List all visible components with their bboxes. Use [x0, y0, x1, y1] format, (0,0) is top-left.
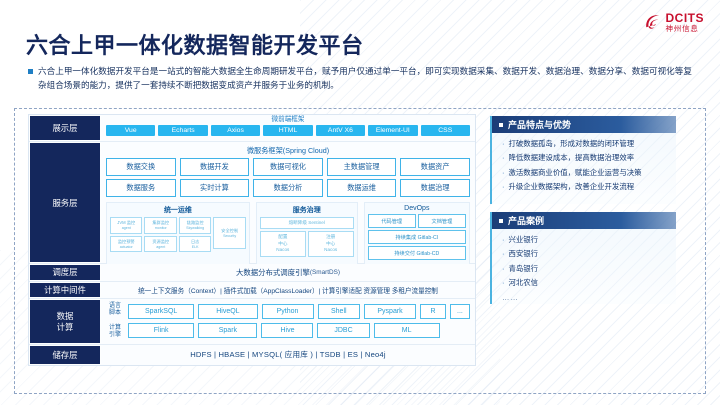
bullet-dot-icon: · [502, 153, 504, 163]
architecture-diagram: 展示层 微前端框架 Vue Echarts Axios HTML AntV X6… [28, 114, 476, 366]
script-label: 语言 脚本 [106, 303, 124, 318]
case-text: 兴业银行 [508, 235, 538, 245]
ops-cell-security[interactable]: 安全控制 Security [213, 217, 245, 249]
service-body: 微服务框架(Spring Cloud) 数据交换 数据开发 数据可视化 主数据管… [101, 142, 475, 263]
advantages-list: · 打破数据孤岛，形成对数据的闭环管理 · 降低数据建设成本，提高数据治理效率 … [492, 133, 676, 192]
ops-cell-en: Security [223, 234, 236, 239]
layer-label-middleware: 计算中间件 [29, 282, 101, 298]
micro-frontend-label: 微前端框架 [106, 116, 470, 124]
brand-logo: DCITS 神州信息 [644, 12, 705, 33]
layer-service: 服务层 微服务框架(Spring Cloud) 数据交换 数据开发 数据可视化 … [29, 142, 475, 264]
engine-cell[interactable]: ML [374, 323, 440, 338]
bullet-dot-icon: · [502, 264, 504, 274]
ops-column: 安全控制 Security [213, 217, 245, 252]
intro-paragraph: 六合上甲一体化数据开发平台是一站式的智能大数据全生命周期研发平台，赋予用户仅通过… [28, 64, 692, 92]
ops-column: 链路监控 Skywalking 日志 ELK [179, 217, 211, 252]
cases-header: 产品案例 [492, 212, 676, 229]
ops-cell[interactable]: JVM 监控 agent [110, 217, 142, 234]
intro-text: 六合上甲一体化数据开发平台是一站式的智能大数据全生命周期研发平台，赋予用户仅通过… [38, 64, 692, 92]
layer-label-presentation: 展示层 [29, 115, 101, 141]
ops-cell[interactable]: 日志 ELK [179, 236, 211, 253]
engine-label-line2: 引擎 [106, 332, 124, 340]
service-governance-card: 服务治理 熔断降级 Sentinel 配置 中心 Nacos 注册 中心 [256, 202, 358, 266]
layer-storage: 储存层 HDFS | HBASE | MYSQL( 应用库 ) | TSDB |… [29, 345, 475, 365]
ops-column: JVM 监控 agent 监控预警 actuator [110, 217, 142, 252]
bullet-dot-icon: · [502, 235, 504, 245]
devops-cd[interactable]: 持续交付 Gitlab-CD [368, 246, 466, 260]
ops-cell[interactable]: 集群监控 monitor [144, 217, 176, 234]
script-cell[interactable]: HiveQL [198, 304, 257, 319]
service-module-row: 数据交换 数据开发 数据可视化 主数据管理 数据资产 [106, 158, 470, 176]
layer-label-data-compute: 数据 计算 [29, 299, 101, 344]
ops-cell-en: actuator [120, 245, 133, 250]
engine-cell[interactable]: Hive [261, 323, 313, 338]
cases-more: …… [502, 293, 668, 303]
advantage-text: 降低数据建设成本，提高数据治理效率 [508, 153, 634, 163]
middleware-text: 统一上下文服务（Context）| 插件式加载（AppClassLoader）|… [106, 284, 470, 295]
service-module[interactable]: 数据交换 [106, 158, 176, 176]
spring-cloud-label: 微服务框架(Spring Cloud) [106, 146, 470, 156]
cases-panel: 产品案例 · 兴业银行 · 西安银行 · 青岛银行 · 河北农信 …… [490, 212, 676, 304]
layer-data-compute: 数据 计算 语言 脚本 计算 引擎 SparkSQL HiveQL Pytho [29, 299, 475, 345]
advantage-text: 激活数据商业价值，赋能企业运营与决策 [508, 168, 641, 178]
advantages-header: 产品特点与优势 [492, 116, 676, 133]
dcits-logo-icon [644, 13, 662, 31]
script-cell[interactable]: Pyspark [364, 304, 416, 319]
engine-cell[interactable]: Flink [128, 323, 194, 338]
tech-tag[interactable]: Axios [211, 125, 260, 136]
service-module[interactable]: 主数据管理 [327, 158, 397, 176]
bullet-square-icon [499, 123, 503, 127]
storage-text: HDFS | HBASE | MYSQL( 应用库 ) | TSDB | ES … [106, 347, 470, 362]
schedule-engine-line: 大数据分布式调度引擎 (SmartDS) [106, 266, 470, 277]
engine-cell[interactable]: Spark [198, 323, 257, 338]
schedule-engine-suffix: (SmartDS) [310, 269, 340, 276]
governance-registry-center[interactable]: 注册 中心 Nacos [308, 231, 354, 256]
page-title: 六合上甲一体化数据智能开发平台 [26, 28, 364, 60]
cases-list: · 兴业银行 · 西安银行 · 青岛银行 · 河北农信 …… [492, 229, 676, 303]
case-text: 西安银行 [508, 249, 538, 259]
service-module[interactable]: 数据服务 [106, 179, 176, 197]
devops-card: DevOps 代码管理 文档管理 持续集成 Gitlab-CI 持续交付 Git… [364, 202, 470, 266]
script-label-line1: 语言 [106, 303, 124, 311]
layer-label-schedule: 调度层 [29, 264, 101, 280]
script-cell[interactable]: SparkSQL [128, 304, 194, 319]
governance-title: 服务治理 [260, 205, 354, 215]
ops-cell-en: agent [122, 226, 131, 231]
devops-title: DevOps [368, 205, 466, 212]
governance-config-center[interactable]: 配置 中心 Nacos [260, 231, 306, 256]
config-center-line3: Nacos [261, 247, 305, 253]
service-module[interactable]: 数据治理 [400, 179, 470, 197]
data-compute-label-line1: 数据 [57, 311, 74, 322]
devops-ci[interactable]: 持续集成 Gitlab-CI [368, 230, 466, 244]
script-cell[interactable]: Python [262, 304, 314, 319]
service-module[interactable]: 实时计算 [180, 179, 250, 197]
bullet-square-icon [28, 69, 33, 74]
layer-middleware: 计算中间件 统一上下文服务（Context）| 插件式加载（AppClassLo… [29, 282, 475, 299]
governance-stack: 熔断降级 Sentinel 配置 中心 Nacos 注册 中心 Nacos [260, 217, 354, 256]
unified-ops-title: 统一运维 [110, 205, 246, 215]
ops-cell-en: ELK [192, 245, 199, 250]
case-text: 青岛银行 [508, 264, 538, 274]
ops-cell[interactable]: 资源监控 agent [144, 236, 176, 253]
schedule-engine-title: 大数据分布式调度引擎 [236, 267, 310, 278]
unified-ops-grid: JVM 监控 agent 监控预警 actuator 集群监控 mo [110, 217, 246, 252]
list-item: · 激活数据商业价值，赋能企业运营与决策 [502, 168, 668, 178]
case-text: 河北农信 [508, 278, 538, 288]
script-cell-more[interactable]: ... [450, 304, 470, 319]
data-compute-body: 语言 脚本 计算 引擎 SparkSQL HiveQL Python Shell… [101, 299, 475, 344]
bullet-dot-icon: · [502, 249, 504, 259]
ops-cell-en: monitor [155, 226, 167, 231]
ops-cell-en: Skywalking [186, 226, 204, 231]
service-module[interactable]: 数据分析 [253, 179, 323, 197]
cases-title: 产品案例 [508, 214, 544, 227]
ops-column: 集群监控 monitor 资源监控 agent [144, 217, 176, 252]
bullet-dot-icon: · [502, 139, 504, 149]
layer-schedule: 调度层 大数据分布式调度引擎 (SmartDS) [29, 264, 475, 281]
script-cell[interactable]: R [420, 304, 446, 319]
bullet-dot-icon: · [502, 182, 504, 192]
ops-cell[interactable]: 链路监控 Skywalking [179, 217, 211, 234]
bullet-dot-icon: · [502, 168, 504, 178]
advantages-title: 产品特点与优势 [508, 118, 571, 131]
presentation-body: 微前端框架 Vue Echarts Axios HTML AntV X6 Ele… [101, 115, 475, 141]
list-item: · 升级企业数据架构，改善企业开发流程 [502, 182, 668, 192]
tech-tag[interactable]: AntV X6 [316, 125, 365, 136]
engine-row: Flink Spark Hive JDBC ML [128, 323, 470, 338]
service-module[interactable]: 数据开发 [180, 158, 250, 176]
brand-name-cn: 神州信息 [666, 25, 705, 33]
unified-ops-card: 统一运维 JVM 监控 agent 监控预警 actuator [106, 202, 250, 266]
layer-label-storage: 储存层 [29, 345, 101, 365]
script-cell[interactable]: Shell [318, 304, 361, 319]
list-item: · 兴业银行 [502, 235, 668, 245]
tech-tag[interactable]: CSS [421, 125, 470, 136]
governance-nacos-pair: 配置 中心 Nacos 注册 中心 Nacos [260, 231, 354, 256]
service-module-row: 数据服务 实时计算 数据分析 数据运维 数据治理 [106, 179, 470, 197]
layer-presentation: 展示层 微前端框架 Vue Echarts Axios HTML AntV X6… [29, 115, 475, 142]
list-item: · 西安银行 [502, 249, 668, 259]
list-item: · 降低数据建设成本，提高数据治理效率 [502, 153, 668, 163]
devops-top-row: 代码管理 文档管理 [368, 214, 466, 228]
script-row: SparkSQL HiveQL Python Shell Pyspark R .… [128, 304, 470, 319]
data-compute-side-labels: 语言 脚本 计算 引擎 [106, 303, 124, 340]
ops-cell-en: agent [156, 245, 165, 250]
presentation-tech-tags: Vue Echarts Axios HTML AntV X6 Element-U… [106, 125, 470, 136]
bullet-dot-icon: · [502, 278, 504, 288]
tech-tag[interactable]: Vue [106, 125, 155, 136]
bullet-square-icon [499, 219, 503, 223]
advantage-text: 升级企业数据架构，改善企业开发流程 [508, 182, 634, 192]
layer-label-service: 服务层 [29, 142, 101, 263]
script-label-line2: 脚本 [106, 310, 124, 318]
brand-name-en: DCITS [666, 12, 705, 24]
middleware-body: 统一上下文服务（Context）| 插件式加载（AppClassLoader）|… [101, 282, 475, 298]
tech-tag[interactable]: Element-UI [368, 125, 417, 136]
data-compute-label-line2: 计算 [57, 322, 74, 333]
list-item: · 打破数据孤岛，形成对数据的闭环管理 [502, 139, 668, 149]
service-module[interactable]: 数据可视化 [253, 158, 323, 176]
service-module[interactable]: 数据资产 [400, 158, 470, 176]
devops-cell[interactable]: 文档管理 [418, 214, 466, 228]
schedule-body: 大数据分布式调度引擎 (SmartDS) [101, 264, 475, 280]
engine-label: 计算 引擎 [106, 325, 124, 340]
storage-body: HDFS | HBASE | MYSQL( 应用库 ) | TSDB | ES … [101, 345, 475, 365]
service-module-grid: 数据交换 数据开发 数据可视化 主数据管理 数据资产 数据服务 实时计算 数据分… [106, 158, 470, 197]
data-compute-lines: SparkSQL HiveQL Python Shell Pyspark R .… [128, 304, 470, 338]
service-subsystems: 统一运维 JVM 监控 agent 监控预警 actuator [106, 202, 470, 266]
service-module[interactable]: 数据运维 [327, 179, 397, 197]
tech-tag[interactable]: Echarts [158, 125, 207, 136]
advantages-panel: 产品特点与优势 · 打破数据孤岛，形成对数据的闭环管理 · 降低数据建设成本，提… [490, 116, 676, 204]
engine-label-line1: 计算 [106, 325, 124, 333]
ops-cell[interactable]: 监控预警 actuator [110, 236, 142, 253]
advantage-text: 打破数据孤岛，形成对数据的闭环管理 [508, 139, 634, 149]
tech-tag[interactable]: HTML [263, 125, 312, 136]
registry-center-line3: Nacos [309, 247, 353, 253]
governance-sentinel[interactable]: 熔断降级 Sentinel [260, 217, 354, 229]
list-item: · 河北农信 [502, 278, 668, 288]
devops-cell[interactable]: 代码管理 [368, 214, 416, 228]
list-item: · 青岛银行 [502, 264, 668, 274]
engine-cell[interactable]: JDBC [317, 323, 369, 338]
